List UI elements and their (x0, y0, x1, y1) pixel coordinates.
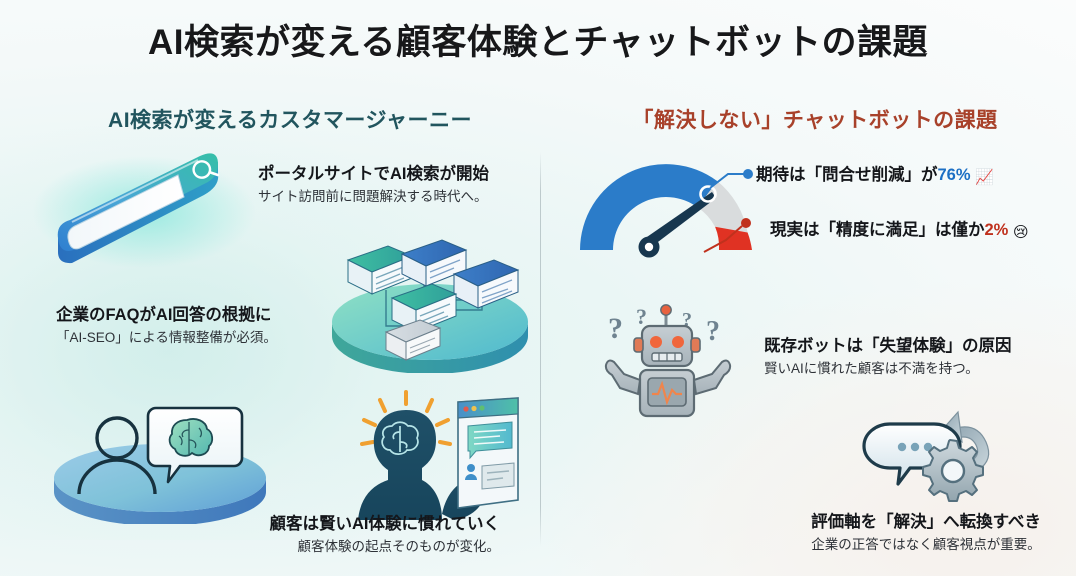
chat-window-icon (458, 398, 518, 508)
infographic-canvas: AI検索が変える顧客体験とチャットボットの課題 AI検索が変えるカスタマージャー… (0, 0, 1076, 576)
right-item-2-title: 評価軸を「解決」へ転換すべき (786, 512, 1066, 533)
crying-face-icon: 😢 (1013, 224, 1029, 241)
gauge-callout-expectation: 期待は「問合せ削減」が76% 📈 (756, 165, 994, 188)
callout-2-text: 現実は「精度に満足」は僅か (770, 221, 985, 239)
left-item-1-caption: ポータルサイトでAI検索が開始 サイト訪問前に問題解決する時代へ。 (258, 164, 489, 205)
isometric-search-bar-icon (32, 150, 257, 270)
left-item-1-title: ポータルサイトでAI検索が開始 (258, 164, 489, 185)
gauge-callout-reality: 現実は「精度に満足」は僅か2% 😢 (770, 220, 1029, 243)
left-item-3-caption: 顧客は賢いAI体験に慣れていく 顧客体験の起点そのものが変化。 (200, 514, 500, 555)
gear-icon (923, 440, 983, 501)
svg-text:?: ? (608, 312, 623, 345)
left-item-1-subtitle: サイト訪問前に問題解決する時代へ。 (258, 188, 489, 206)
right-item-1-title: 既存ボットは「失望体験」の原因 (764, 336, 1012, 357)
svg-text:?: ? (636, 304, 647, 329)
right-column-heading: 「解決しない」チャットボットの課題 (600, 104, 1030, 134)
callout-2-value: 2% (985, 221, 1009, 239)
left-item-3-title: 顧客は賢いAI体験に慣れていく (200, 514, 500, 535)
callout-1-value: 76% (938, 166, 971, 184)
chat-gear-refresh-icon (858, 402, 1014, 506)
chart-increasing-icon: 📈 (975, 169, 994, 186)
callout-1-text: 期待は「問合せ削減」が (756, 166, 938, 184)
isometric-knowledge-base-icon (320, 238, 540, 373)
right-item-1-caption: 既存ボットは「失望体験」の原因 賢いAIに慣れた顧客は不満を持つ。 (764, 336, 1012, 377)
svg-text:?: ? (706, 316, 720, 347)
left-item-2-caption: 企業のFAQがAI回答の根拠に 「AI-SEO」による情報整備が必須。 (56, 305, 277, 346)
column-divider (540, 152, 541, 546)
right-item-1-subtitle: 賢いAIに慣れた顧客は不満を持つ。 (764, 360, 1012, 378)
confused-robot-icon: ? ? ? ? (594, 296, 762, 418)
left-item-2-subtitle: 「AI-SEO」による情報整備が必須。 (56, 329, 277, 347)
right-item-2-subtitle: 企業の正答ではなく顧客視点が重要。 (786, 536, 1066, 554)
page-title: AI検索が変える顧客体験とチャットボットの課題 (0, 14, 1076, 65)
thinking-person-chat-icon (330, 388, 526, 523)
left-item-2-title: 企業のFAQがAI回答の根拠に (56, 305, 277, 326)
customer-brain-disc-icon (44, 402, 276, 524)
right-item-2-caption: 評価軸を「解決」へ転換すべき 企業の正答ではなく顧客視点が重要。 (786, 512, 1066, 553)
left-item-3-subtitle: 顧客体験の起点そのものが変化。 (200, 538, 500, 556)
left-column-heading: AI検索が変えるカスタマージャーニー (70, 104, 510, 134)
